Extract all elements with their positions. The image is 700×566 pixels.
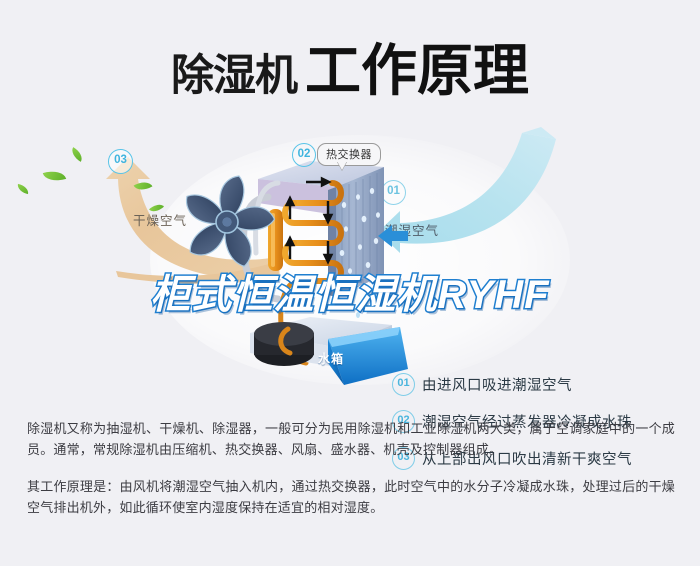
page-root: 除湿机工作原理 01 潮湿空气 [0,0,700,566]
page-title-part-2: 工作原理 [305,39,529,102]
page-title-part-1: 除湿机 [171,52,297,100]
legend-item: 01 由进风口吸进潮湿空气 [392,373,692,396]
heat-exchanger-badge: 02 [292,143,316,167]
body-copy: 除湿机又称为抽湿机、干燥机、除湿器，一般可分为民用除湿机和工业除湿机两大类，属于… [27,418,675,518]
paragraph-1: 除湿机又称为抽湿机、干燥机、除湿器，一般可分为民用除湿机和工业除湿机两大类，属于… [27,418,675,460]
heat-exchanger-callout: 热交换器 [317,143,381,166]
callout-tail-icon [337,161,347,170]
dry-air-badge: 03 [108,149,133,174]
legend-badge: 01 [392,373,415,396]
paragraph-2: 其工作原理是：由风机将潮湿空气抽入机内，通过热交换器，此时空气中的水分子冷凝成水… [27,476,675,518]
legend-label: 由进风口吸进潮湿空气 [422,374,572,395]
watermark-text: 柜式恒温恒湿机RYHF [0,262,700,320]
water-tank-label: 水箱 [318,350,344,367]
page-title: 除湿机工作原理 [0,26,700,107]
